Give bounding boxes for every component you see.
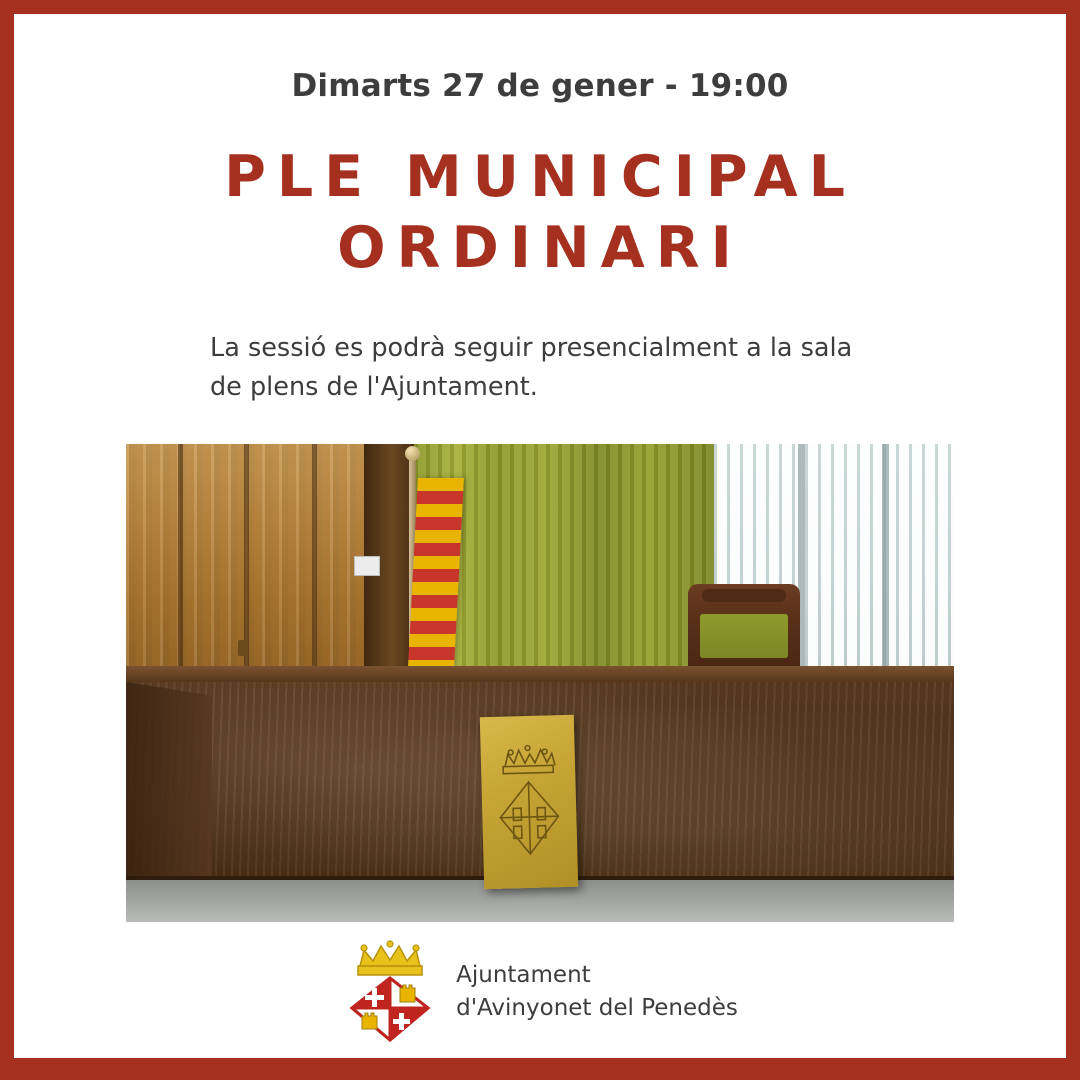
panel-left-return bbox=[126, 682, 212, 896]
page-title-line-2: ORDINARI bbox=[110, 213, 970, 284]
golden-coat-of-arms-plaque bbox=[480, 715, 578, 889]
door-handle bbox=[238, 640, 248, 656]
poster-canvas: Dimarts 27 de gener - 19:00 PLE MUNICIPA… bbox=[0, 0, 1080, 1080]
chair-upholstery bbox=[700, 614, 788, 658]
event-description: La sessió es podrà seguir presencialment… bbox=[210, 329, 890, 408]
frame-bar-bottom bbox=[0, 1058, 1080, 1080]
coat-of-arms-icon bbox=[342, 940, 438, 1044]
organization-name: Ajuntament d'Avinyonet del Penedès bbox=[456, 959, 738, 1024]
wooden-door bbox=[126, 444, 364, 666]
org-line-2: d'Avinyonet del Penedès bbox=[456, 992, 738, 1025]
page-title-line-1: PLE MUNICIPAL bbox=[110, 142, 970, 213]
door-seam bbox=[178, 444, 183, 666]
flag-finial bbox=[405, 446, 420, 461]
plaque-engraving-icon bbox=[490, 731, 568, 873]
event-date-time: Dimarts 27 de gener - 19:00 bbox=[110, 68, 970, 104]
poster-content: Dimarts 27 de gener - 19:00 PLE MUNICIPA… bbox=[0, 0, 1080, 408]
photo-upper-wall bbox=[126, 444, 954, 666]
footer-logo: Ajuntament d'Avinyonet del Penedès bbox=[0, 940, 1080, 1044]
door-seam bbox=[312, 444, 317, 666]
senyera-flag bbox=[408, 478, 464, 666]
org-line-1: Ajuntament bbox=[456, 959, 738, 992]
chair-crest-rail bbox=[702, 589, 786, 602]
photo-scene bbox=[126, 444, 954, 922]
counter-top-edge bbox=[126, 666, 954, 682]
door-seam bbox=[244, 444, 249, 666]
plenary-hall-photo bbox=[126, 444, 954, 922]
window-mullion bbox=[882, 444, 889, 666]
wall-switch-plate bbox=[354, 556, 380, 576]
page-title: PLE MUNICIPAL ORDINARI bbox=[110, 142, 970, 285]
presiding-chair bbox=[688, 584, 800, 668]
door-frame bbox=[364, 444, 414, 666]
